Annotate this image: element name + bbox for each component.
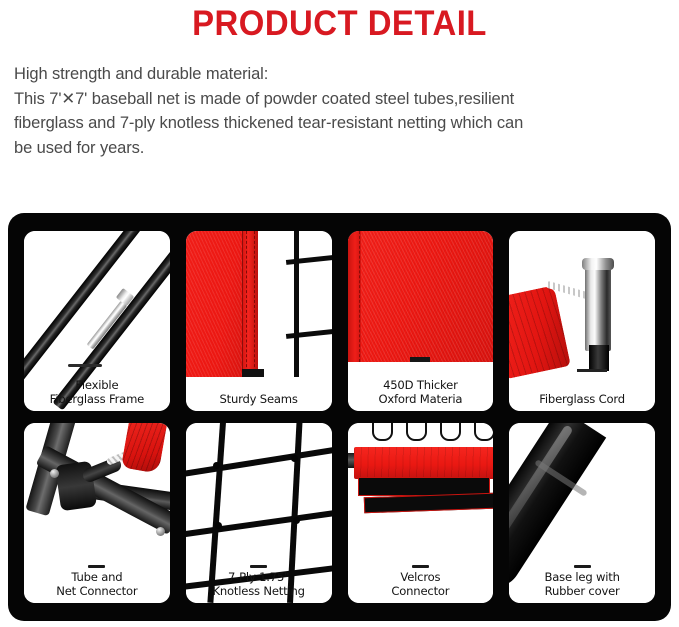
feature-card-flexible-fiberglass-frame[interactable]: Flexible Fiberglass Frame <box>24 231 170 411</box>
caption-block: Flexible Fiberglass Frame <box>24 373 170 411</box>
velcro-loop-icon <box>440 423 461 441</box>
caption-block: Sturdy Seams <box>186 387 332 411</box>
feature-caption: Fiberglass Cord <box>509 393 655 406</box>
red-velcro-flap-icon <box>354 447 494 479</box>
red-net-cord-icon <box>121 423 169 474</box>
page-title: PRODUCT DETAIL <box>20 0 658 46</box>
feature-card-velcros-connector[interactable]: Velcros Connector <box>348 423 494 603</box>
net-knot-icon <box>291 455 298 462</box>
feature-card-fiberglass-cord[interactable]: Fiberglass Cord <box>509 231 655 411</box>
feature-card-tube-and-net-connector[interactable]: Tube and Net Connector <box>24 423 170 603</box>
intro-line-2: This 7'✕7' baseball net is made of powde… <box>14 87 665 112</box>
caption-block: 7-Ply 1.75" Knotless Netting <box>186 565 332 603</box>
velcro-loop-icon <box>474 423 494 441</box>
caption-dash-icon <box>88 565 105 568</box>
black-velcro-strip-icon <box>363 493 493 514</box>
caption-dash-icon <box>574 565 591 568</box>
oxford-fabric-icon <box>348 231 494 362</box>
velcro-loop-icon <box>406 423 427 441</box>
net-strand-vertical-icon <box>294 231 299 377</box>
caption-block: Fiberglass Cord <box>509 387 655 411</box>
fabric-bottom-shadow-icon <box>242 369 264 377</box>
net-strand-horizontal-icon <box>186 506 332 538</box>
caption-block: Tube and Net Connector <box>24 565 170 603</box>
sturdy-seams-photo <box>186 231 332 411</box>
intro-description: High strength and durable material: This… <box>14 62 665 160</box>
net-knot-icon <box>215 522 222 529</box>
feature-card-450d-thicker-oxford[interactable]: 450D Thicker Oxford Materia <box>348 231 494 411</box>
caption-block: 450D Thicker Oxford Materia <box>348 373 494 411</box>
net-knot-icon <box>213 462 220 469</box>
caption-dash-icon <box>250 565 267 568</box>
fiberglass-cord-photo <box>509 231 655 411</box>
feature-grid: Flexible Fiberglass Frame Sturdy Seams <box>8 213 671 621</box>
fiberglass-pole-upper-icon <box>24 231 165 397</box>
oxford-stitch-icon <box>359 231 360 362</box>
chrome-pole-icon <box>585 267 611 351</box>
velcro-loop-icon <box>372 423 393 441</box>
pole-black-base-icon <box>589 345 609 371</box>
feature-caption: Sturdy Seams <box>186 393 332 406</box>
screw-icon <box>156 527 165 536</box>
feature-caption: Flexible Fiberglass Frame <box>24 379 170 406</box>
fabric-seam-edge-icon <box>242 231 258 377</box>
feature-card-knotless-netting[interactable]: 7-Ply 1.75" Knotless Netting <box>186 423 332 603</box>
caption-block: Velcros Connector <box>348 565 494 603</box>
net-strand-horizontal-icon <box>286 254 332 265</box>
pole-foot-shadow-icon <box>577 369 607 372</box>
screw-icon <box>50 469 59 478</box>
red-net-edge-icon <box>509 285 571 379</box>
stitch-line-icon <box>246 231 247 377</box>
intro-line-3: fiberglass and 7-ply knotless thickened … <box>14 111 665 136</box>
caption-block: Base leg with Rubber cover <box>509 565 655 603</box>
chrome-pole-cap-icon <box>582 258 614 270</box>
net-strand-horizontal-icon <box>186 442 332 478</box>
feature-card-base-leg-rubber-cover[interactable]: Base leg with Rubber cover <box>509 423 655 603</box>
caption-dash-icon <box>412 565 429 568</box>
oxford-bottom-tab-icon <box>410 357 430 362</box>
pole-foot-shadow-icon <box>68 364 102 367</box>
feature-caption: Velcros Connector <box>348 571 494 598</box>
feature-caption: Base leg with Rubber cover <box>509 571 655 598</box>
feature-caption: Tube and Net Connector <box>24 571 170 598</box>
feature-caption: 450D Thicker Oxford Materia <box>348 379 494 406</box>
feature-card-sturdy-seams[interactable]: Sturdy Seams <box>186 231 332 411</box>
net-strand-horizontal-icon <box>286 328 332 339</box>
intro-line-4: be used for years. <box>14 136 665 161</box>
stitch-line-icon <box>254 231 255 377</box>
intro-line-1: High strength and durable material: <box>14 62 665 87</box>
net-knot-icon <box>293 517 300 524</box>
feature-caption: 7-Ply 1.75" Knotless Netting <box>186 571 332 598</box>
